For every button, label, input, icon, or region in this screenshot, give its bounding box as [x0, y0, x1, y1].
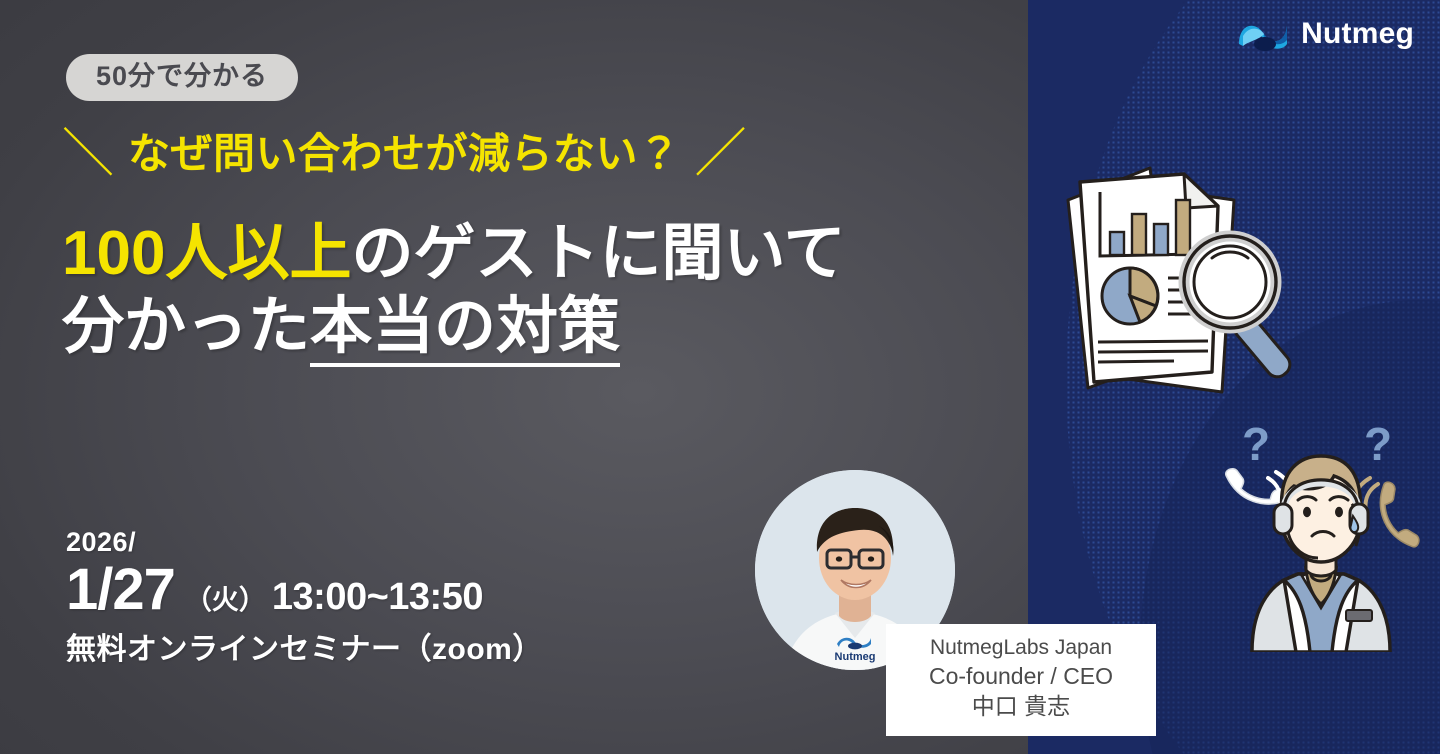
event-date-block: 2026/ 1/27 （火） 13:00~13:50 無料オンラインセミナー（z…	[66, 528, 543, 665]
headline-underlined: 本当の対策	[310, 292, 620, 367]
speaker-company: NutmegLabs Japan	[900, 634, 1142, 662]
headline-line-1: 100人以上のゲストに聞いて	[62, 218, 846, 291]
event-day-of-week: （火）	[185, 587, 266, 614]
event-time: 13:00~13:50	[272, 578, 483, 616]
logo-wordmark: Nutmeg	[1301, 19, 1414, 49]
nutmeg-wave-mark-icon	[1235, 14, 1293, 54]
speaker-name: 中口 貴志	[900, 692, 1142, 722]
headline-line-2: 分かった本当の対策	[62, 291, 846, 364]
main-headline: 100人以上のゲストに聞いて 分かった本当の対策	[62, 218, 846, 363]
speaker-role: Co-founder / CEO	[900, 662, 1142, 692]
event-year: 2026/	[66, 528, 543, 558]
headline-highlight: 100人以上	[62, 219, 351, 288]
speaker-name-card: NutmegLabs Japan Co-founder / CEO 中口 貴志	[886, 624, 1156, 736]
duration-badge: 50分で分かる	[66, 54, 298, 101]
slash-right-decoration: ／	[695, 128, 747, 180]
headline-line1-rest: のゲストに聞いて	[351, 219, 845, 288]
event-day: 1/27	[66, 560, 175, 619]
troubled-call-center-operator-icon: ? ?	[1206, 412, 1436, 652]
webinar-banner: Nutmeg 50分で分かる ＼ なぜ問い合わせが減らない？ ／ 100人以上の…	[0, 0, 1440, 754]
sub-headline: ＼ なぜ問い合わせが減らない？ ／	[62, 128, 747, 180]
svg-text:Nutmeg: Nutmeg	[835, 651, 876, 663]
event-format-note: 無料オンラインセミナー（zoom）	[66, 635, 543, 665]
sub-headline-text: なぜ問い合わせが減らない？	[128, 133, 681, 175]
event-date-row: 1/27 （火） 13:00~13:50	[66, 560, 543, 619]
nutmeg-logo: Nutmeg	[1235, 14, 1414, 54]
svg-text:?: ?	[1364, 418, 1392, 470]
report-documents-with-magnifier-icon	[1062, 160, 1322, 410]
headline-line2-plain: 分かった	[62, 292, 310, 361]
slash-left-decoration: ＼	[62, 128, 114, 180]
svg-text:?: ?	[1242, 418, 1270, 470]
